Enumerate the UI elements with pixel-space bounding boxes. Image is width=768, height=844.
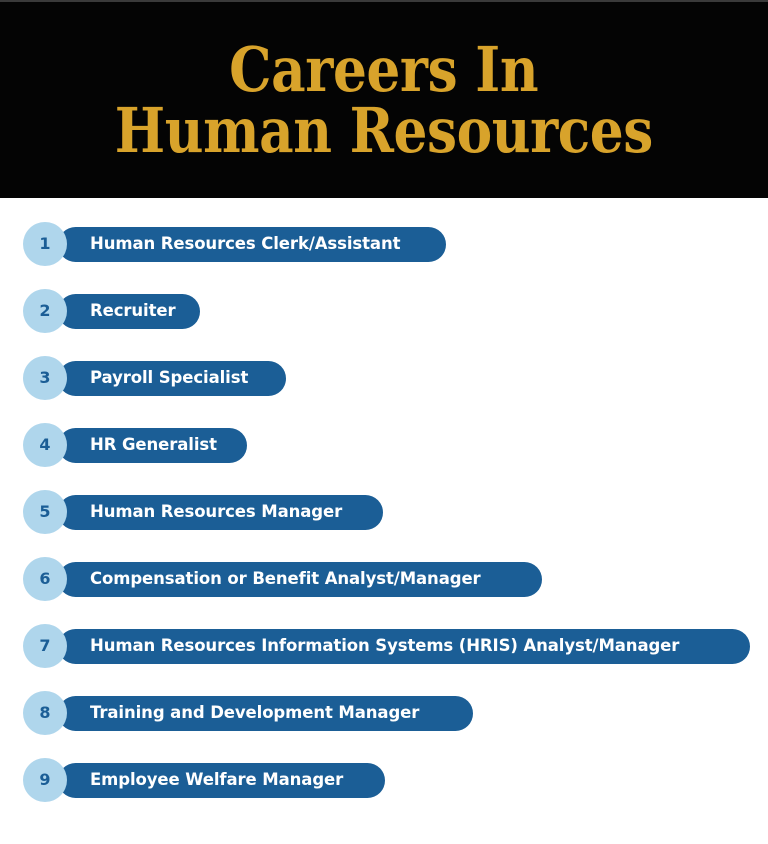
careers-list: Human Resources Clerk/Assistant1Recruite… xyxy=(0,198,768,844)
list-item[interactable]: HR Generalist4 xyxy=(0,419,768,486)
page-title-line-1: Careers In xyxy=(229,41,538,98)
career-title: Human Resources Clerk/Assistant xyxy=(90,236,400,253)
step-number: 4 xyxy=(39,437,50,453)
career-title: Compensation or Benefit Analyst/Manager xyxy=(90,571,481,588)
career-pill[interactable]: Training and Development Manager xyxy=(58,696,473,731)
step-number-badge: 8 xyxy=(23,691,67,735)
list-item[interactable]: Employee Welfare Manager9 xyxy=(0,754,768,821)
step-number: 6 xyxy=(39,571,50,587)
career-pill[interactable]: Human Resources Manager xyxy=(58,495,383,530)
step-number: 5 xyxy=(39,504,50,520)
career-pill[interactable]: Payroll Specialist xyxy=(58,361,286,396)
career-title: Payroll Specialist xyxy=(90,370,248,387)
list-item[interactable]: Payroll Specialist3 xyxy=(0,352,768,419)
step-number-badge: 1 xyxy=(23,222,67,266)
list-item[interactable]: Compensation or Benefit Analyst/Manager6 xyxy=(0,553,768,620)
step-number: 8 xyxy=(39,705,50,721)
step-number-badge: 2 xyxy=(23,289,67,333)
page-title-line-2: Human Resources xyxy=(115,102,653,159)
list-item[interactable]: Recruiter2 xyxy=(0,285,768,352)
step-number: 1 xyxy=(39,236,50,252)
career-title: HR Generalist xyxy=(90,437,217,454)
list-item[interactable]: Training and Development Manager8 xyxy=(0,687,768,754)
list-item[interactable]: Human Resources Clerk/Assistant1 xyxy=(0,218,768,285)
step-number-badge: 4 xyxy=(23,423,67,467)
career-title: Recruiter xyxy=(90,303,176,320)
career-pill[interactable]: HR Generalist xyxy=(58,428,247,463)
step-number-badge: 7 xyxy=(23,624,67,668)
step-number-badge: 9 xyxy=(23,758,67,802)
career-pill[interactable]: Human Resources Clerk/Assistant xyxy=(58,227,446,262)
career-title: Human Resources Information Systems (HRI… xyxy=(90,638,679,655)
career-title: Employee Welfare Manager xyxy=(90,772,343,789)
career-pill[interactable]: Employee Welfare Manager xyxy=(58,763,385,798)
career-title: Human Resources Manager xyxy=(90,504,342,521)
career-pill[interactable]: Human Resources Information Systems (HRI… xyxy=(58,629,750,664)
list-item[interactable]: Human Resources Information Systems (HRI… xyxy=(0,620,768,687)
step-number-badge: 3 xyxy=(23,356,67,400)
step-number: 3 xyxy=(39,370,50,386)
step-number-badge: 6 xyxy=(23,557,67,601)
header-banner: Careers In Human Resources xyxy=(0,0,768,198)
step-number: 9 xyxy=(39,772,50,788)
step-number-badge: 5 xyxy=(23,490,67,534)
career-title: Training and Development Manager xyxy=(90,705,419,722)
career-pill[interactable]: Recruiter xyxy=(58,294,200,329)
step-number: 2 xyxy=(39,303,50,319)
step-number: 7 xyxy=(39,638,50,654)
career-pill[interactable]: Compensation or Benefit Analyst/Manager xyxy=(58,562,542,597)
list-item[interactable]: Human Resources Manager5 xyxy=(0,486,768,553)
